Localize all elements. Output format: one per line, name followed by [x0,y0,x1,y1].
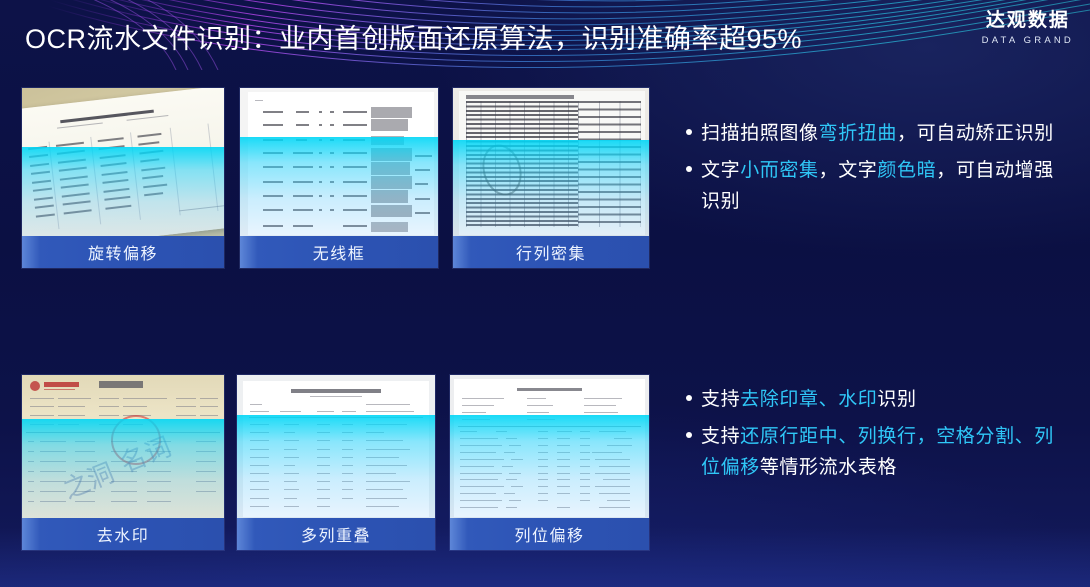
sample-card-column-shift[interactable]: 列位偏移 [450,375,649,550]
sample-image-borderless [240,88,438,236]
brand-logo: 达观数据 DATA GRAND [982,10,1074,46]
card-label: 列位偏移 [450,518,649,550]
bullet-dot-icon [686,166,692,172]
card-label: 无线框 [240,236,438,268]
card-label: 旋转偏移 [22,236,224,268]
bullet-dot-icon [686,129,692,135]
sample-card-borderless[interactable]: 无线框 [240,88,438,268]
sample-image-multi-column-overlap [237,375,435,518]
feature-bullet: 扫描拍照图像弯折扭曲，可自动矫正识别 [686,118,1056,149]
document-multi-column-statement [237,375,435,518]
page-title: OCR流水文件识别：业内首创版面还原算法，识别准确率超95% [25,17,802,56]
logo-chinese: 达观数据 [982,10,1074,32]
plain-phrase: 等情形流水表格 [760,457,897,478]
highlight-phrase: 颜色暗 [877,160,936,181]
sample-image-dense-grid [453,88,649,236]
card-label: 去水印 [22,518,224,550]
sample-card-dense-grid[interactable]: 行列密集 [453,88,649,268]
feature-bullet: 文字小而密集，文字颜色暗，可自动增强识别 [686,155,1056,217]
document-photo-receipt [22,88,224,236]
card-label: 行列密集 [453,236,649,268]
bullet-dot-icon [686,432,692,438]
sample-image-rotated-offset [22,88,224,236]
sample-card-remove-watermark[interactable]: 名词 之洞 去水印 [22,375,224,550]
feature-bullet-text: 支持还原行距中、列换行，空格分割、列位偏移等情形流水表格 [701,421,1066,483]
plain-phrase: 文字 [701,160,740,181]
plain-phrase: 支持 [701,389,740,410]
document-borderless-table [240,88,438,236]
sample-image-remove-watermark: 名词 之洞 [22,375,224,518]
plain-phrase: ，文字 [819,160,878,181]
feature-list-top: 扫描拍照图像弯折扭曲，可自动矫正识别文字小而密集，文字颜色暗，可自动增强识别 [686,118,1056,223]
sample-card-rotated-offset[interactable]: 旋转偏移 [22,88,224,268]
plain-phrase: 识别 [877,389,916,410]
feature-list-bottom: 支持去除印章、水印识别支持还原行距中、列换行，空格分割、列位偏移等情形流水表格 [686,384,1066,489]
card-label: 多列重叠 [237,518,435,550]
bullet-dot-icon [686,395,692,401]
plain-phrase: 扫描拍照图像 [701,123,819,144]
feature-bullet: 支持还原行距中、列换行，空格分割、列位偏移等情形流水表格 [686,421,1066,483]
highlight-phrase: 弯折扭曲 [819,123,897,144]
document-dense-table [453,88,649,236]
document-bank-statement-watermark: 名词 之洞 [22,375,224,518]
feature-bullet: 支持去除印章、水印识别 [686,384,1066,415]
feature-bullet-text: 文字小而密集，文字颜色暗，可自动增强识别 [701,155,1056,217]
plain-phrase: 支持 [701,426,740,447]
document-shifted-column-statement [450,375,649,518]
feature-bullet-text: 扫描拍照图像弯折扭曲，可自动矫正识别 [701,118,1054,149]
sample-image-column-shift [450,375,649,518]
feature-bullet-text: 支持去除印章、水印识别 [701,384,917,415]
highlight-phrase: 小而密集 [740,160,818,181]
highlight-phrase: 去除印章、水印 [740,389,877,410]
plain-phrase: ，可自动矫正识别 [897,123,1054,144]
logo-english: DATA GRAND [982,35,1074,46]
sample-card-multi-column-overlap[interactable]: 多列重叠 [237,375,435,550]
